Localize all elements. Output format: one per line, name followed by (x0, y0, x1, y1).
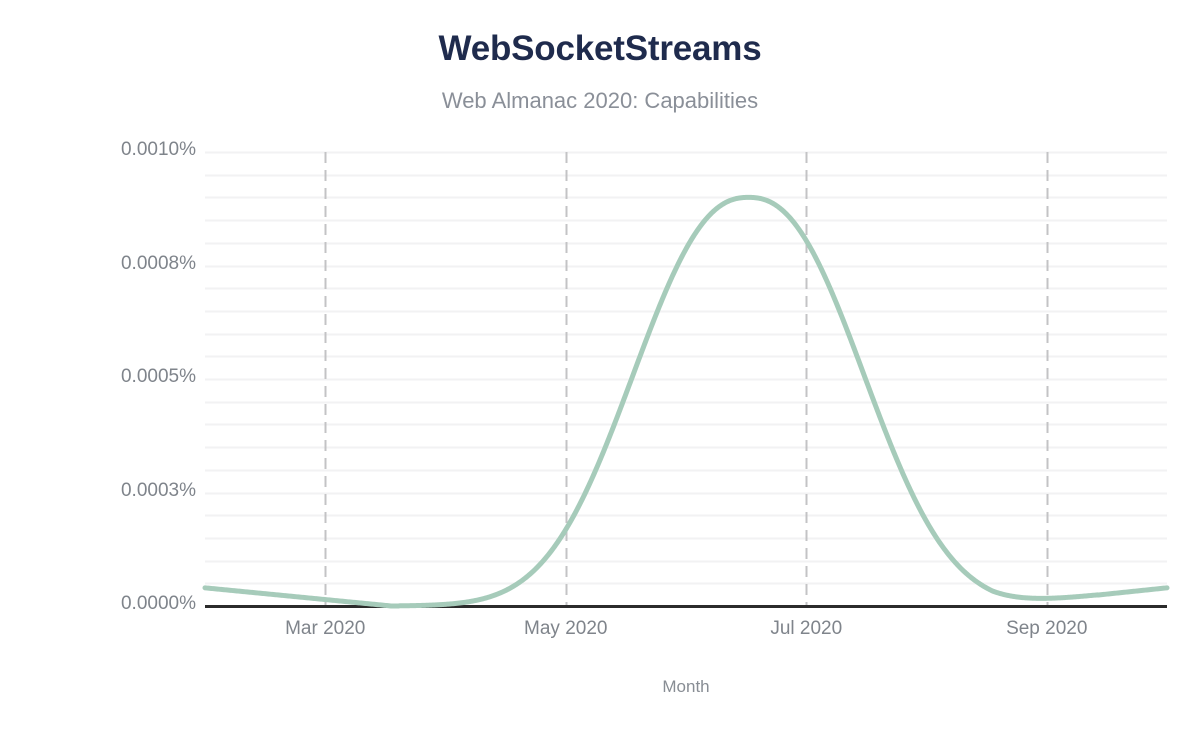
x-tick-label: Mar 2020 (225, 618, 425, 640)
y-tick-label: 0.0003% (88, 480, 196, 502)
x-tick-label: Jul 2020 (706, 618, 906, 640)
y-tick-label: 0.0008% (88, 253, 196, 275)
x-tick-label: Sep 2020 (947, 618, 1147, 640)
x-tick-label: May 2020 (466, 618, 666, 640)
y-tick-label: 0.0010% (88, 139, 196, 161)
chart-container: WebSocketStreams Web Almanac 2020: Capab… (0, 0, 1200, 742)
y-tick-label: 0.0005% (88, 366, 196, 388)
y-tick-label: 0.0000% (88, 593, 196, 615)
minor-horizontal-gridlines (205, 153, 1167, 607)
